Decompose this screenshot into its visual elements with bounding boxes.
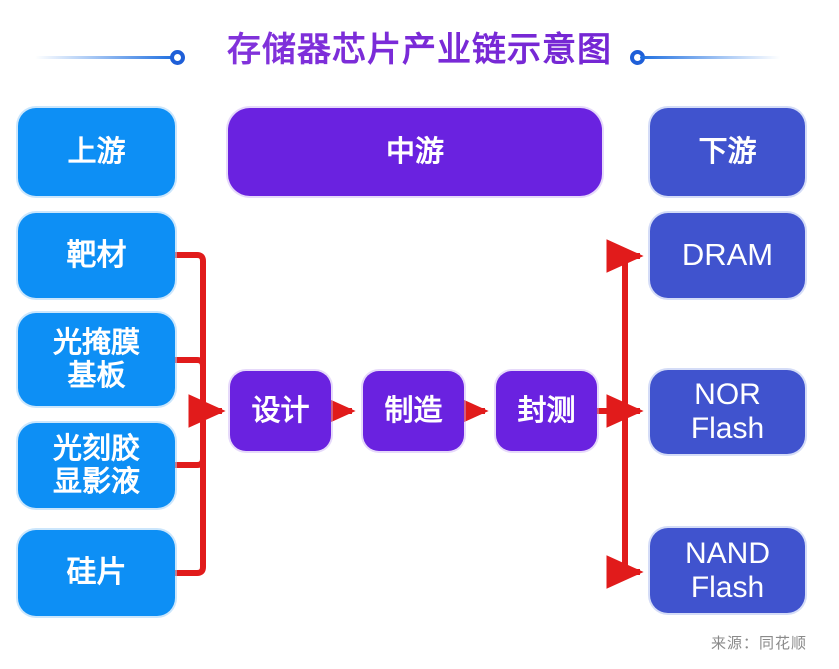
node-upstream-silicon-wafer[interactable]: 硅片 bbox=[18, 530, 175, 616]
wire-upstream-wafer bbox=[175, 420, 203, 573]
wire-packaging-to-dram bbox=[625, 256, 640, 411]
node-upstream-photomask-substrate[interactable]: 光掩膜 基板 bbox=[18, 313, 175, 406]
node-downstream-nor-flash[interactable]: NOR Flash bbox=[650, 370, 805, 454]
wire-upstream-photoresist bbox=[175, 420, 203, 465]
node-upstream-photoresist-developer[interactable]: 光刻胶 显影液 bbox=[18, 423, 175, 508]
header-downstream[interactable]: 下游 bbox=[650, 108, 805, 196]
title-row: 存储器芯片产业链示意图 bbox=[0, 28, 839, 86]
wire-upstream-target bbox=[175, 255, 203, 404]
node-downstream-nand-flash[interactable]: NAND Flash bbox=[650, 528, 805, 613]
node-midstream-manufacture[interactable]: 制造 bbox=[363, 371, 464, 451]
title-decoration-line-right bbox=[640, 56, 780, 59]
node-downstream-dram[interactable]: DRAM bbox=[650, 213, 805, 298]
wire-upstream-photomask bbox=[175, 360, 203, 404]
source-credit: 来源：同花顺 bbox=[711, 632, 807, 653]
header-upstream[interactable]: 上游 bbox=[18, 108, 175, 196]
wire-packaging-to-nand bbox=[625, 411, 640, 572]
node-upstream-target[interactable]: 靶材 bbox=[18, 213, 175, 298]
node-midstream-packaging-testing[interactable]: 封测 bbox=[496, 371, 597, 451]
page-title: 存储器芯片产业链示意图 bbox=[0, 28, 839, 72]
node-midstream-design[interactable]: 设计 bbox=[230, 371, 331, 451]
header-midstream[interactable]: 中游 bbox=[228, 108, 602, 196]
diagram-canvas: 存储器芯片产业链示意图 上游 靶材 光掩膜 bbox=[0, 0, 839, 669]
